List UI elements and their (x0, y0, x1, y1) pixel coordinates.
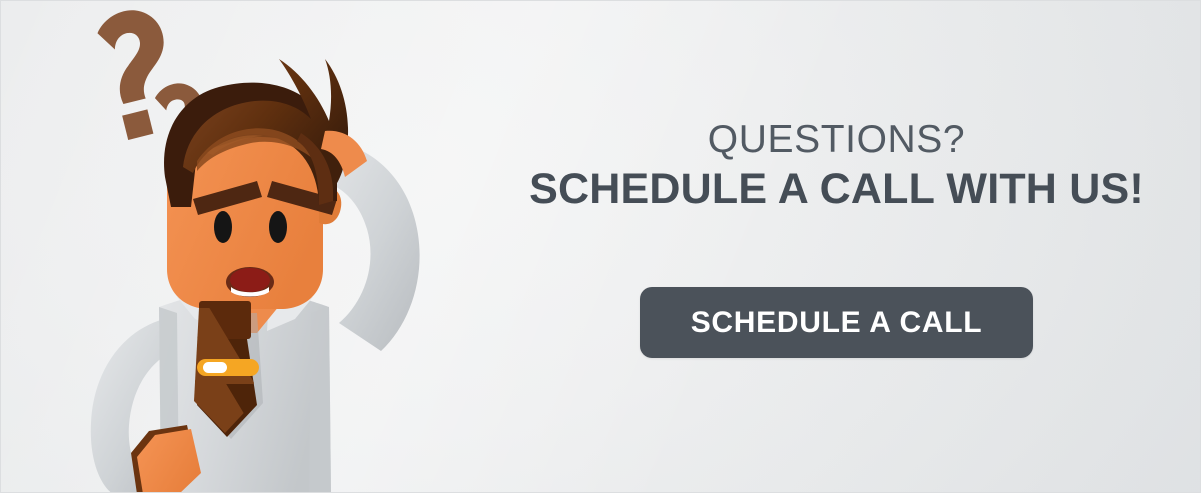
tie-clip (197, 359, 259, 376)
schedule-a-call-button[interactable]: SCHEDULE A CALL (640, 287, 1033, 358)
question-mark-large-icon (94, 3, 186, 140)
page-title: QUESTIONS? SCHEDULE A CALL WITH US! (471, 119, 1201, 213)
cta-banner: QUESTIONS? SCHEDULE A CALL WITH US! SCHE… (0, 0, 1201, 493)
copy-block: QUESTIONS? SCHEDULE A CALL WITH US! SCHE… (471, 1, 1201, 493)
left-hand (131, 425, 201, 493)
mouth (226, 267, 274, 297)
headline-line-2: SCHEDULE A CALL WITH US! (471, 167, 1201, 213)
confused-businessman-illustration (1, 1, 471, 493)
cta-container: SCHEDULE A CALL (471, 287, 1201, 358)
headline-line-1: QUESTIONS? (471, 119, 1201, 160)
